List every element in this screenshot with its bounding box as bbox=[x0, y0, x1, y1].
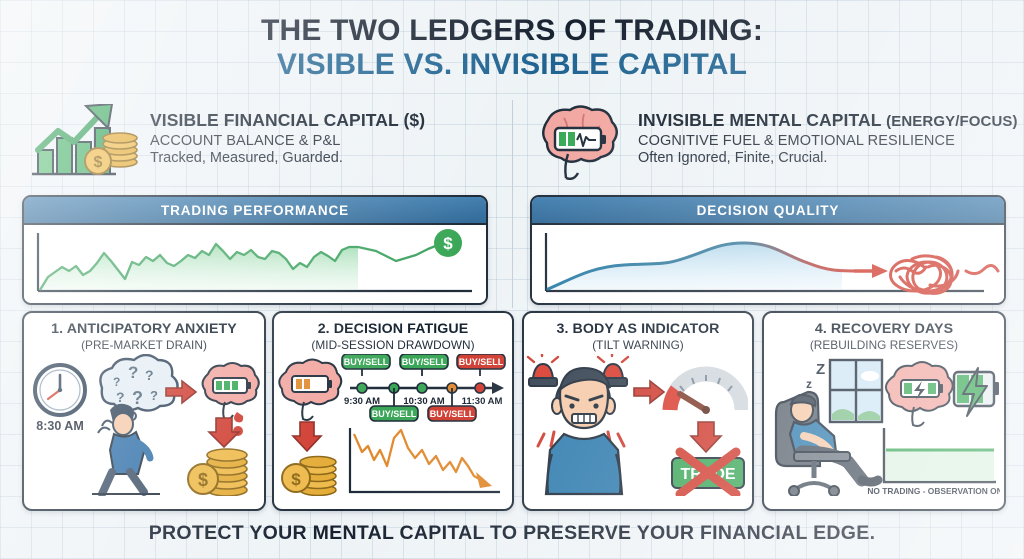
svg-text:?: ? bbox=[145, 367, 154, 383]
card-3-artwork: TRADE bbox=[524, 354, 752, 496]
card-anticipatory-anxiety: 1. ANTICIPATORY ANXIETY (PRE-MARKET DRAI… bbox=[22, 311, 266, 511]
svg-text:Z: Z bbox=[816, 361, 825, 378]
brain-battery-half-icon bbox=[279, 360, 341, 421]
trade-timeline: BUY/SELL BUY/SELL BUY/SELL BUY/SELL BUY/… bbox=[342, 354, 505, 421]
invisible-capital-subheading: COGNITIVE FUEL & EMOTIONAL RESILIENCE bbox=[638, 133, 1018, 149]
growth-chart-coins-icon: $ bbox=[24, 104, 140, 180]
svg-text:?: ? bbox=[128, 363, 138, 382]
card-2-subtitle: (MID-SESSION DRAWDOWN) bbox=[274, 338, 512, 352]
visible-capital-header: $ VISIBLE FINANCIAL CAPITAL ($) ACCOUNT … bbox=[24, 104, 494, 180]
timeline-tick-3: 11:30 AM bbox=[462, 396, 503, 407]
svg-text:?: ? bbox=[150, 388, 158, 403]
svg-text:BUY/SELL: BUY/SELL bbox=[344, 357, 389, 367]
card-1-artwork: 8:30 AM ? ? ? ? ? ? bbox=[24, 354, 264, 496]
title-line-2: VISIBLE VS. INVISIBLE CAPITAL bbox=[0, 48, 1024, 82]
trade-tag: BUY/SELL bbox=[428, 406, 476, 421]
svg-text:BUY/SELL: BUY/SELL bbox=[402, 357, 447, 367]
brain-battery-charging-icon bbox=[886, 362, 953, 426]
timeline-tick-2: 10:30 AM bbox=[403, 396, 444, 407]
invisible-capital-tagline: Often Ignored, Finite, Crucial. bbox=[638, 150, 1018, 166]
svg-text:?: ? bbox=[116, 389, 125, 405]
svg-text:BUY/SELL: BUY/SELL bbox=[430, 409, 475, 419]
visible-capital-subheading: ACCOUNT BALANCE & P&L bbox=[150, 133, 425, 149]
trade-tag: BUY/SELL bbox=[400, 354, 448, 369]
card-4-title: 4. RECOVERY DAYS bbox=[764, 321, 1004, 337]
trade-button-crossed: TRADE bbox=[672, 452, 744, 494]
invisible-capital-header: INVISIBLE MENTAL CAPITAL (ENERGY/FOCUS) … bbox=[528, 104, 1008, 180]
page-title: THE TWO LEDGERS OF TRADING: VISIBLE VS. … bbox=[0, 14, 1024, 81]
title-line-1: THE TWO LEDGERS OF TRADING: bbox=[0, 14, 1024, 48]
trading-performance-panel: TRADING PERFORMANCE $ bbox=[22, 195, 488, 305]
window-daylight-icon bbox=[830, 360, 882, 422]
card-recovery-days: 4. RECOVERY DAYS (REBUILDING RESERVES) Z… bbox=[762, 311, 1006, 511]
svg-text:$: $ bbox=[94, 154, 103, 171]
card-4-artwork: Z z z bbox=[764, 354, 1004, 496]
invisible-capital-heading-suffix: (ENERGY/FOCUS) bbox=[886, 113, 1017, 130]
card-1-subtitle: (PRE-MARKET DRAIN) bbox=[24, 338, 264, 352]
battery-charging-icon bbox=[954, 368, 999, 416]
gauge-redzone-icon bbox=[670, 374, 742, 414]
visible-capital-heading: VISIBLE FINANCIAL CAPITAL ($) bbox=[150, 110, 425, 131]
card-decision-fatigue: 2. DECISION FATIGUE (MID-SESSION DRAWDOW… bbox=[272, 311, 514, 511]
clock-icon bbox=[35, 365, 85, 415]
card-4-chart-caption: NO TRADING - OBSERVATION ONLY bbox=[867, 486, 1000, 496]
card-2-title: 2. DECISION FATIGUE bbox=[274, 321, 512, 337]
decision-quality-banner-label: DECISION QUALITY bbox=[532, 197, 1004, 225]
svg-text:$: $ bbox=[198, 470, 208, 490]
arrow-down-icon bbox=[209, 418, 239, 447]
trading-performance-chart: $ bbox=[24, 225, 486, 301]
arrow-right-icon bbox=[634, 381, 664, 403]
coin-stack-icon: $ bbox=[282, 457, 336, 496]
flat-line-chart-icon bbox=[884, 428, 996, 482]
card-4-subtitle: (REBUILDING RESERVES) bbox=[764, 338, 1004, 352]
card-3-subtitle: (TILT WARNING) bbox=[524, 338, 752, 352]
svg-text:z: z bbox=[806, 377, 812, 391]
svg-text:$: $ bbox=[291, 470, 301, 489]
decision-quality-chart bbox=[532, 225, 1004, 301]
svg-text:?: ? bbox=[113, 375, 120, 389]
declining-chart-icon bbox=[350, 428, 500, 492]
svg-text:BUY/SELL: BUY/SELL bbox=[372, 409, 417, 419]
card-body-as-indicator: 3. BODY AS INDICATOR (TILT WARNING) bbox=[522, 311, 754, 511]
decision-quality-panel: DECISION QUALITY bbox=[530, 195, 1006, 305]
coin-stack-icon: $ bbox=[188, 449, 247, 496]
invisible-capital-heading-main: INVISIBLE MENTAL CAPITAL bbox=[638, 110, 881, 130]
card-1-title: 1. ANTICIPATORY ANXIETY bbox=[24, 321, 264, 337]
svg-text:?: ? bbox=[132, 388, 143, 408]
card-2-artwork: $ BUY/SELL BUY/SELL bbox=[274, 354, 512, 496]
walking-person-icon bbox=[92, 404, 160, 494]
visible-capital-tagline: Tracked, Measured, Guarded. bbox=[150, 150, 425, 166]
alarm-light-icon bbox=[528, 354, 558, 386]
timeline-tick-1: 9:30 AM bbox=[344, 396, 380, 407]
tangled-scribble-icon bbox=[891, 256, 998, 294]
clock-time-label: 8:30 AM bbox=[36, 419, 83, 433]
trade-tag: BUY/SELL bbox=[342, 354, 390, 369]
footer-tagline: PROTECT YOUR MENTAL CAPITAL TO PRESERVE … bbox=[0, 522, 1024, 545]
svg-text:BUY/SELL: BUY/SELL bbox=[459, 357, 504, 367]
dollar-badge-label: $ bbox=[443, 234, 453, 253]
trading-performance-banner-label: TRADING PERFORMANCE bbox=[24, 197, 486, 225]
card-3-title: 3. BODY AS INDICATOR bbox=[524, 321, 752, 337]
trade-tag: BUY/SELL bbox=[457, 354, 505, 369]
brain-battery-icon bbox=[528, 104, 628, 180]
invisible-capital-heading: INVISIBLE MENTAL CAPITAL (ENERGY/FOCUS) bbox=[638, 110, 1018, 131]
arrow-down-icon bbox=[293, 422, 321, 451]
column-divider bbox=[512, 100, 513, 308]
arrow-down-icon bbox=[691, 422, 721, 452]
trade-tag: BUY/SELL bbox=[370, 406, 418, 421]
